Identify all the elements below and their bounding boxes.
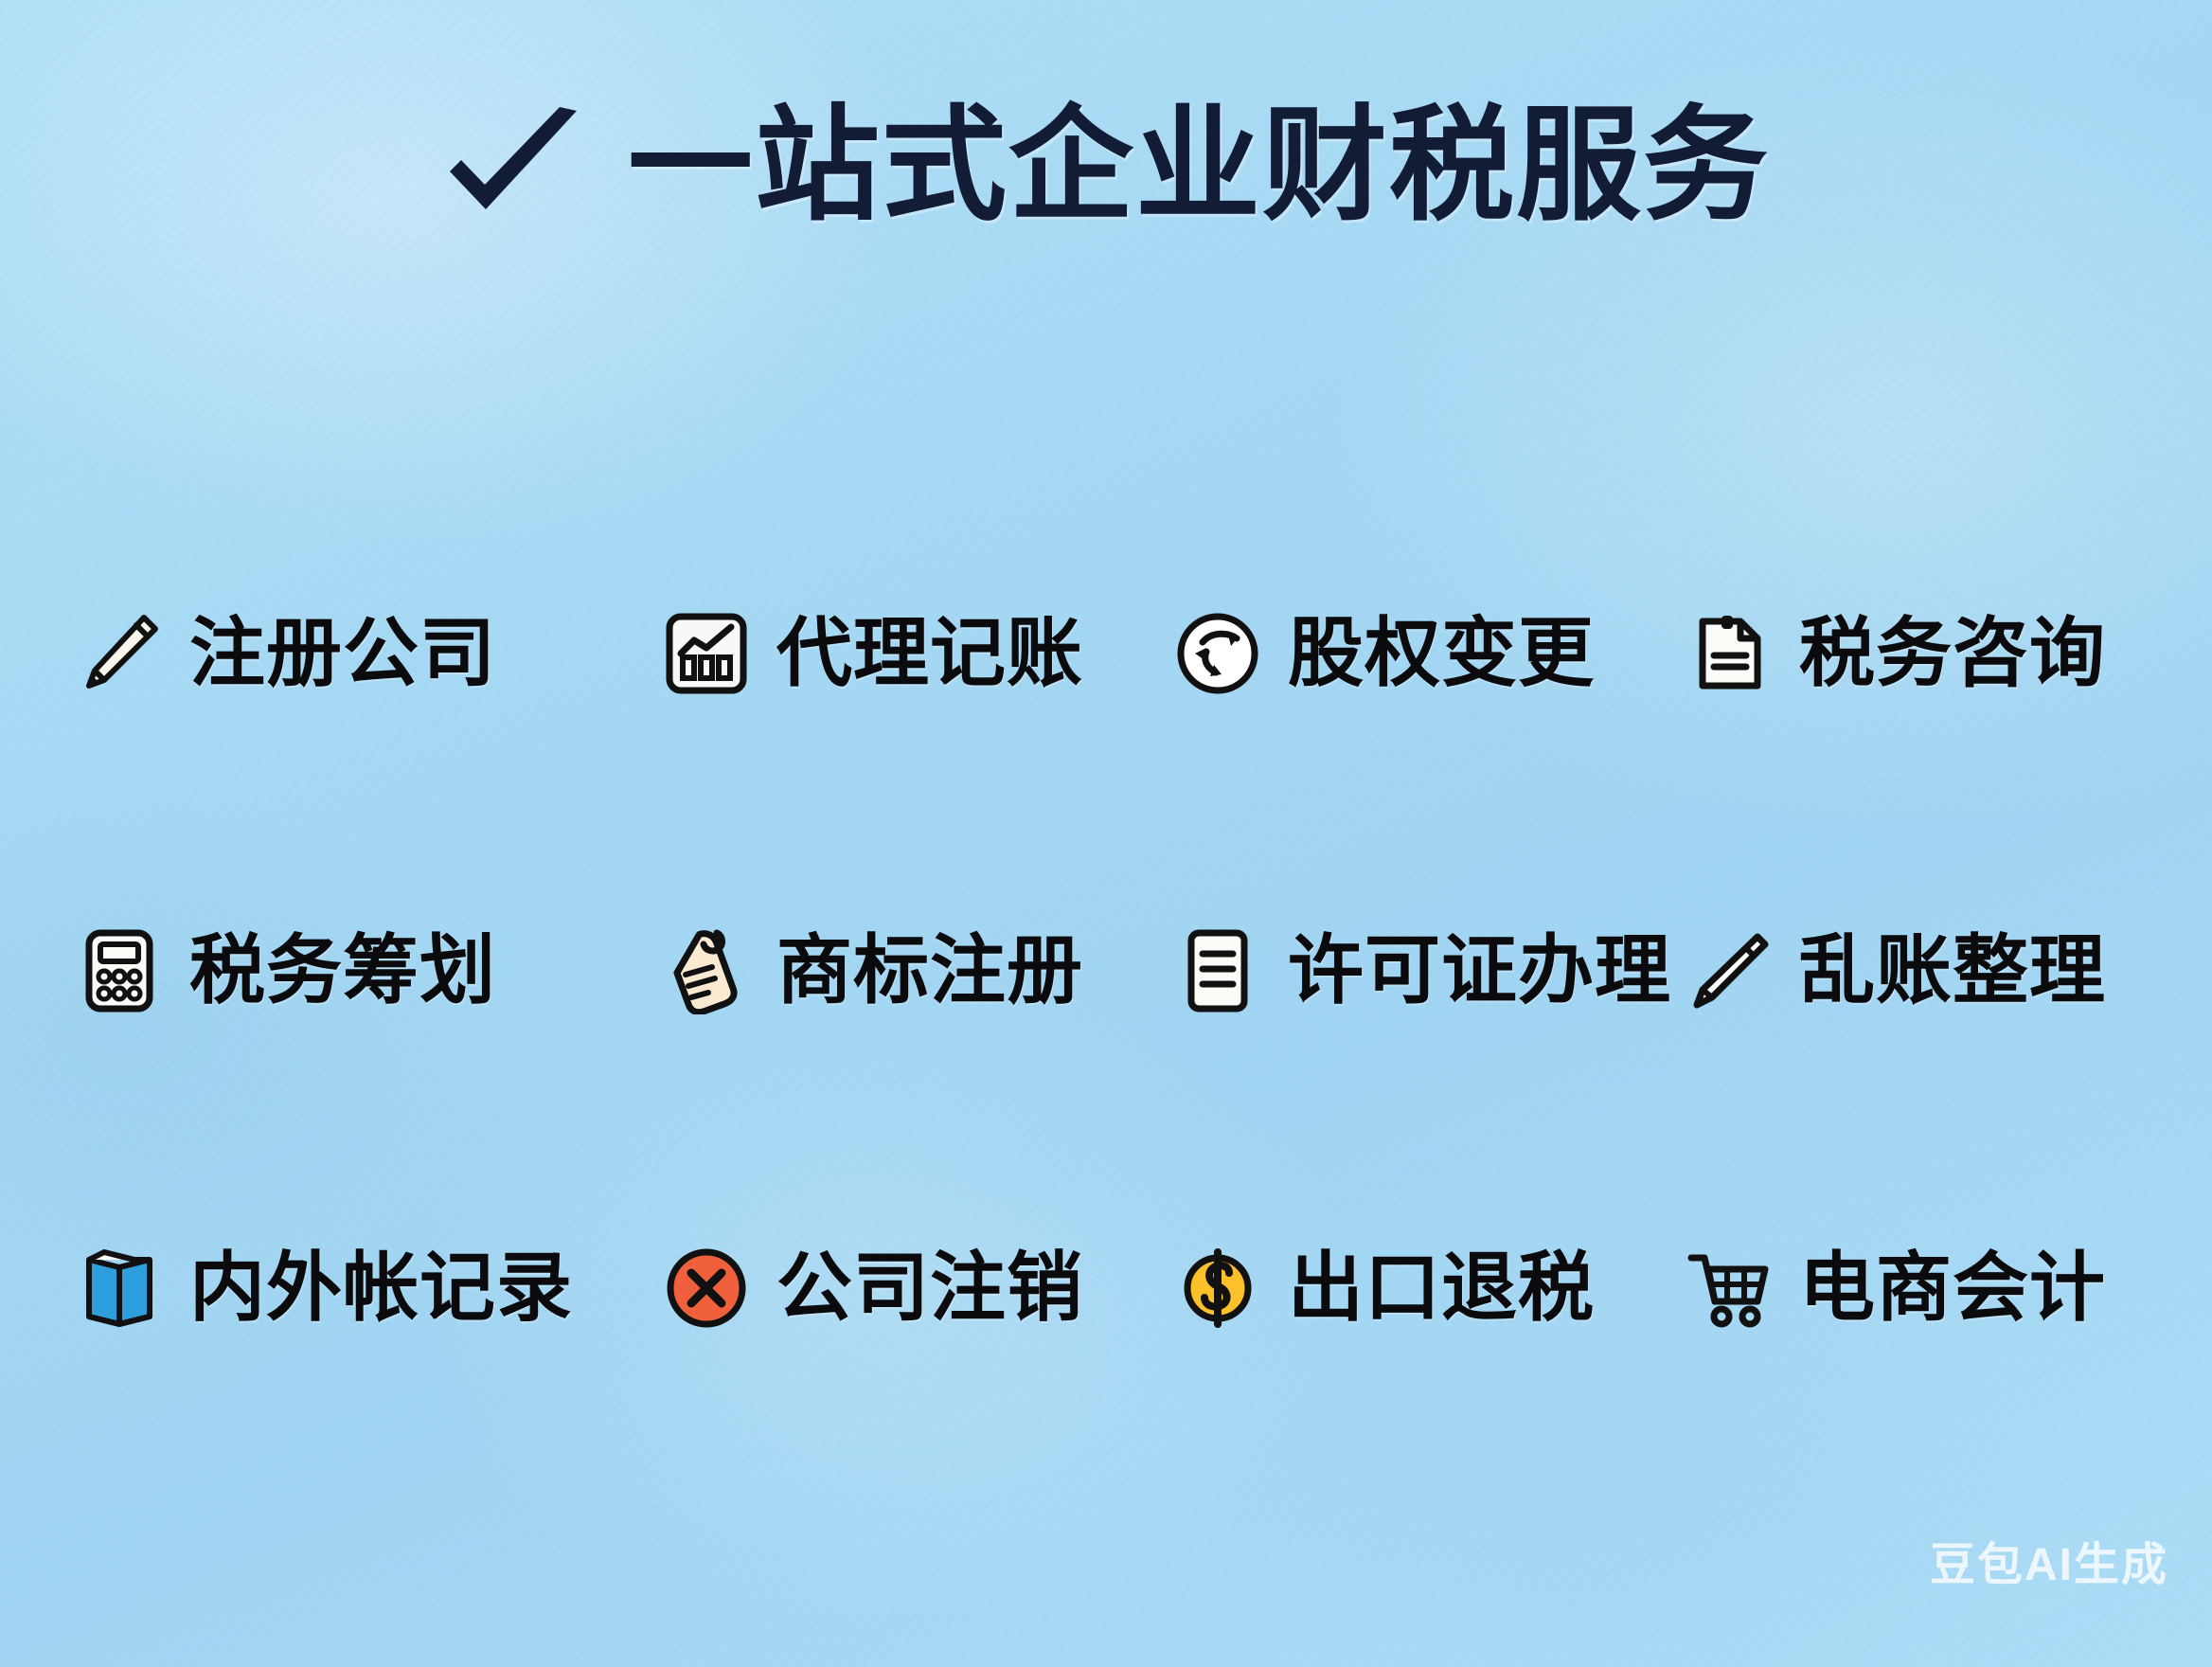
service-item-bookkeeping[interactable]: 代理记账 — [661, 597, 1172, 710]
service-item-tax-planning[interactable]: 税务筹划 — [74, 914, 661, 1028]
poster-title: 一站式企业财税服务 — [0, 102, 2212, 230]
service-label: 注册公司 — [189, 616, 496, 691]
price-tag-icon — [661, 925, 752, 1016]
service-label: 税务筹划 — [189, 933, 496, 1009]
service-label: 股权变更 — [1288, 616, 1595, 691]
bar-chart-icon — [661, 608, 752, 699]
service-label: 商标注册 — [776, 933, 1083, 1009]
dollar-coin-icon — [1172, 1243, 1263, 1334]
service-item-ecommerce-accounting[interactable]: 电商会计 — [1684, 1231, 2148, 1345]
service-label: 内外帐记录 — [189, 1250, 573, 1326]
service-item-trademark[interactable]: 商标注册 — [661, 914, 1172, 1028]
service-item-company-deregistration[interactable]: 公司注销 — [661, 1231, 1172, 1345]
poster-title-text: 一站式企业财税服务 — [628, 102, 1770, 230]
exchange-circle-icon — [1172, 608, 1263, 699]
check-mark-icon — [442, 107, 584, 224]
service-label: 公司注销 — [776, 1250, 1083, 1326]
service-label: 许可证办理 — [1288, 933, 1671, 1009]
marker-pen-icon — [1684, 925, 1775, 1016]
service-label: 税务咨询 — [1799, 616, 2106, 691]
service-label: 出口退税 — [1288, 1250, 1595, 1326]
cancel-cross-circle-icon — [661, 1243, 752, 1334]
pencil-icon — [74, 608, 165, 699]
service-item-equity-change[interactable]: 股权变更 — [1172, 597, 1684, 710]
service-item-tax-consulting[interactable]: 税务咨询 — [1684, 597, 2148, 710]
service-label: 代理记账 — [776, 616, 1083, 691]
document-lines-icon — [1172, 925, 1263, 1016]
clipboard-icon — [1684, 608, 1775, 699]
service-item-register-company[interactable]: 注册公司 — [74, 597, 661, 710]
service-item-export-tax-rebate[interactable]: 出口退税 — [1172, 1231, 1684, 1345]
calculator-icon — [74, 925, 165, 1016]
service-item-license-processing[interactable]: 许可证办理 — [1172, 914, 1684, 1028]
open-book-icon — [74, 1243, 165, 1334]
watermark-label: 豆包AI生成 — [1930, 1527, 2168, 1593]
service-grid: 注册公司 代理记账 — [74, 493, 2148, 1449]
service-label: 电商会计 — [1799, 1250, 2106, 1326]
service-item-account-cleanup[interactable]: 乱账整理 — [1684, 914, 2148, 1028]
shopping-cart-icon — [1684, 1243, 1775, 1334]
service-label: 乱账整理 — [1799, 933, 2106, 1009]
poster-canvas: 一站式企业财税服务 注册公司 — [0, 0, 2212, 1667]
service-item-internal-external-books[interactable]: 内外帐记录 — [74, 1231, 661, 1345]
